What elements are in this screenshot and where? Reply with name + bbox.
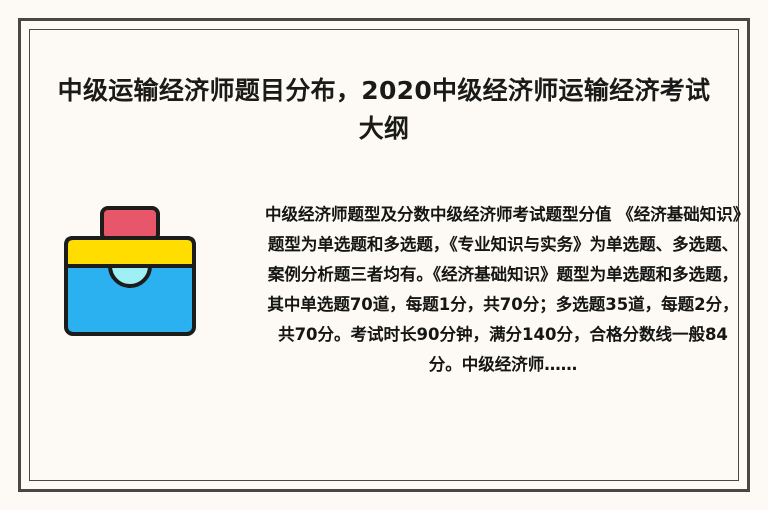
briefcase-illustration [52, 196, 208, 342]
page-root: 中级运输经济师题目分布，2020中级经济师运输经济考试大纲 中级经济师题型及分数… [0, 0, 768, 510]
page-title: 中级运输经济师题目分布，2020中级经济师运输经济考试大纲 [56, 72, 712, 148]
briefcase-handle-tab [102, 208, 158, 240]
briefcase-icon [52, 196, 208, 342]
article-body: 中级经济师题型及分数中级经济师考试题型分值 《经济基础知识》题型为单选题和多选题… [264, 200, 742, 380]
briefcase-upper-band [66, 238, 194, 266]
